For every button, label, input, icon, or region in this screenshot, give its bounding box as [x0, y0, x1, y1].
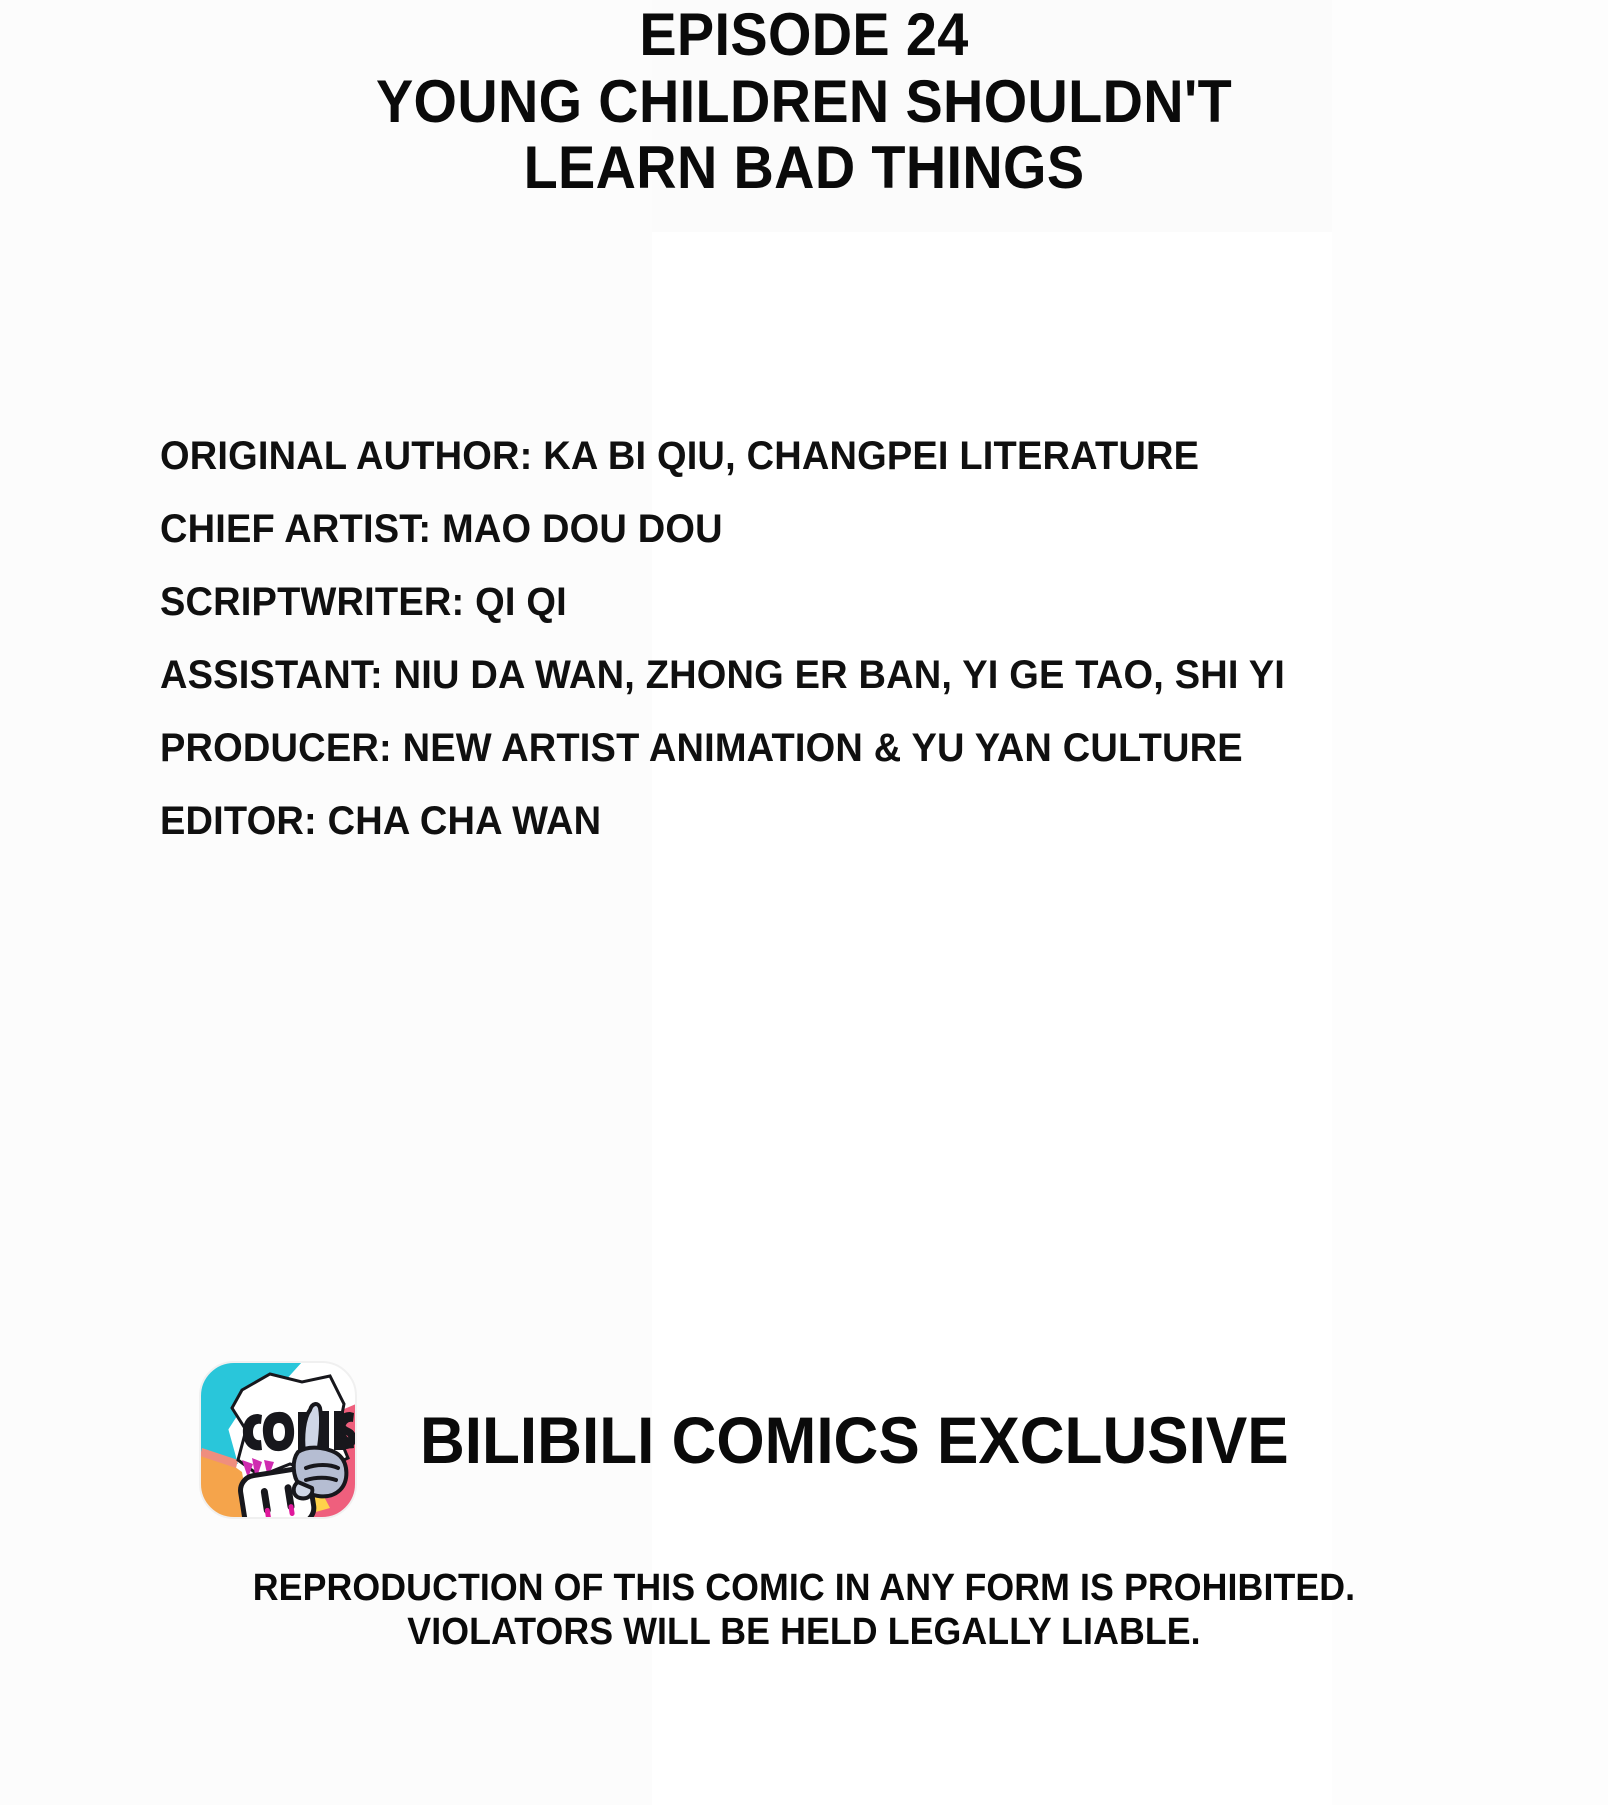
credit-chief-artist: CHIEF ARTIST: MAO DOU DOU	[160, 509, 1395, 549]
disclaimer-line-2: VIOLATORS WILL BE HELD LEGALLY LIABLE.	[48, 1610, 1560, 1654]
episode-title-line-2: LEARN BAD THINGS	[56, 135, 1551, 202]
credit-producer: PRODUCER: NEW ARTIST ANIMATION & YU YAN …	[160, 728, 1395, 768]
credits-list: ORIGINAL AUTHOR: KA BI QIU, CHANGPEI LIT…	[160, 436, 1460, 841]
bilibili-comics-app-logo-icon	[198, 1360, 358, 1520]
credit-original-author: ORIGINAL AUTHOR: KA BI QIU, CHANGPEI LIT…	[160, 436, 1395, 476]
credit-scriptwriter: SCRIPTWRITER: QI QI	[160, 582, 1395, 622]
episode-number-line: EPISODE 24	[56, 2, 1551, 69]
legal-disclaimer: REPRODUCTION OF THIS COMIC IN ANY FORM I…	[0, 1566, 1608, 1654]
credit-editor: EDITOR: CHA CHA WAN	[160, 801, 1395, 841]
episode-title-line-1: YOUNG CHILDREN SHOULDN'T	[56, 69, 1551, 136]
episode-title-block: EPISODE 24 YOUNG CHILDREN SHOULDN'T LEAR…	[0, 2, 1608, 202]
credit-assistant: ASSISTANT: NIU DA WAN, ZHONG ER BAN, YI …	[160, 655, 1395, 695]
brand-row: BILIBILI COMICS EXCLUSIVE	[160, 1340, 1460, 1540]
bilibili-comics-exclusive-label: BILIBILI COMICS EXCLUSIVE	[420, 1407, 1289, 1473]
disclaimer-line-1: REPRODUCTION OF THIS COMIC IN ANY FORM I…	[48, 1566, 1560, 1610]
